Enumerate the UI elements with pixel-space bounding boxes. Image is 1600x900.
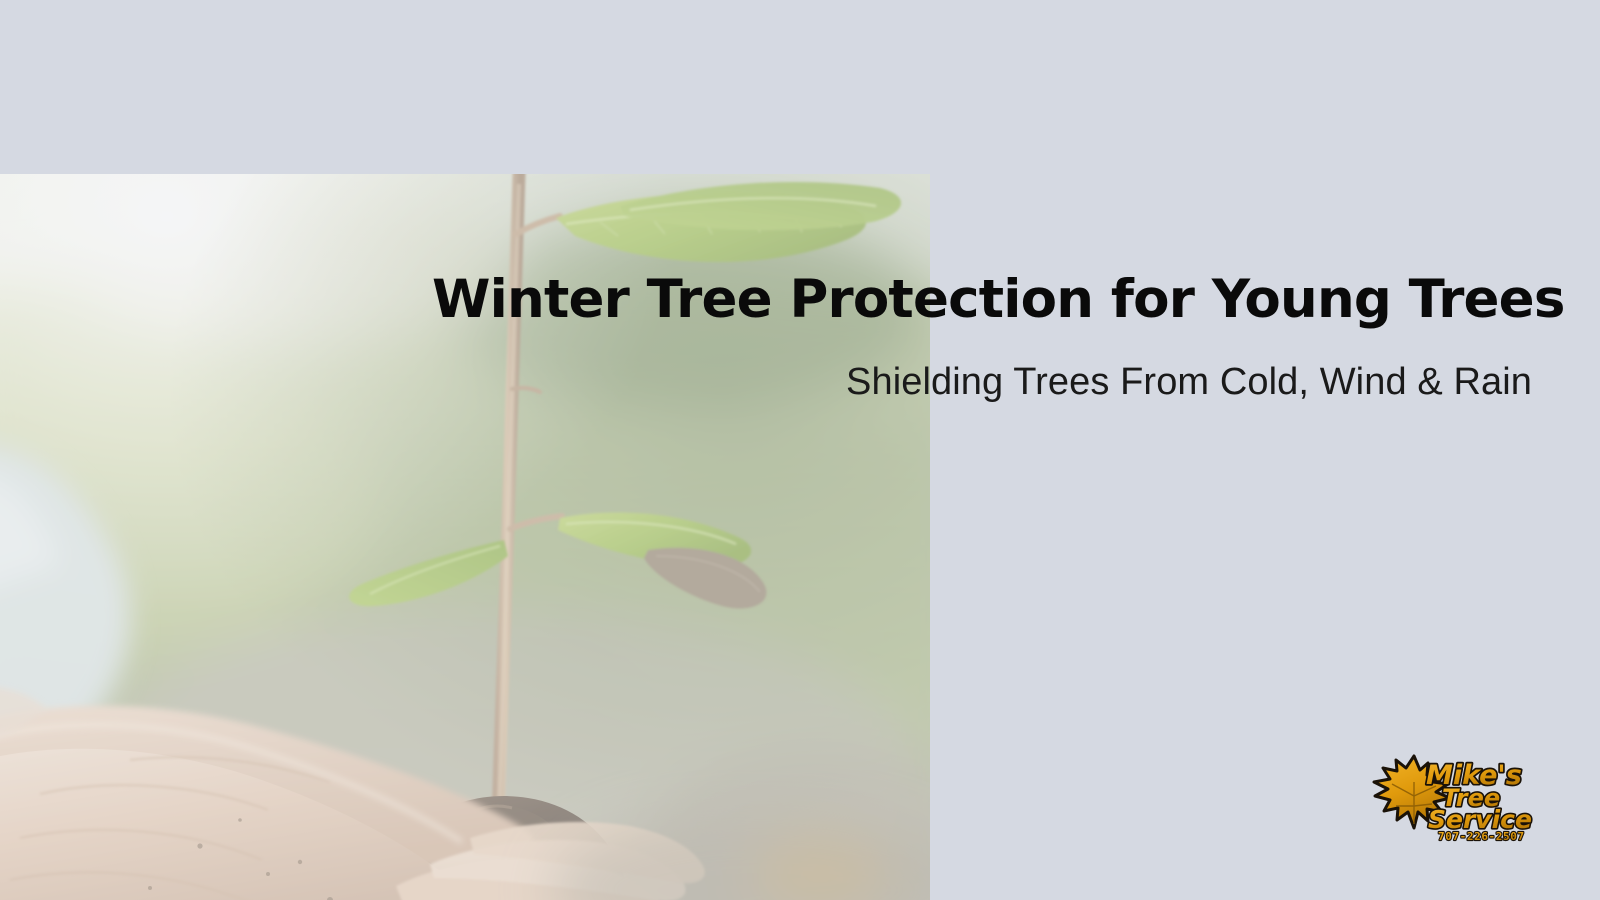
hero-text-block: Winter Tree Protection for Young Trees S… bbox=[432, 272, 1532, 405]
mikes-tree-service-logo: Mike's Tree Service 707-226-2507 bbox=[1370, 748, 1545, 843]
page-title: Winter Tree Protection for Young Trees bbox=[432, 272, 1532, 328]
page-subtitle: Shielding Trees From Cold, Wind & Rain bbox=[432, 360, 1532, 406]
logo-artwork: Mike's Tree Service 707-226-2507 bbox=[1370, 748, 1545, 843]
logo-phone-number: 707-226-2507 bbox=[1438, 830, 1525, 843]
